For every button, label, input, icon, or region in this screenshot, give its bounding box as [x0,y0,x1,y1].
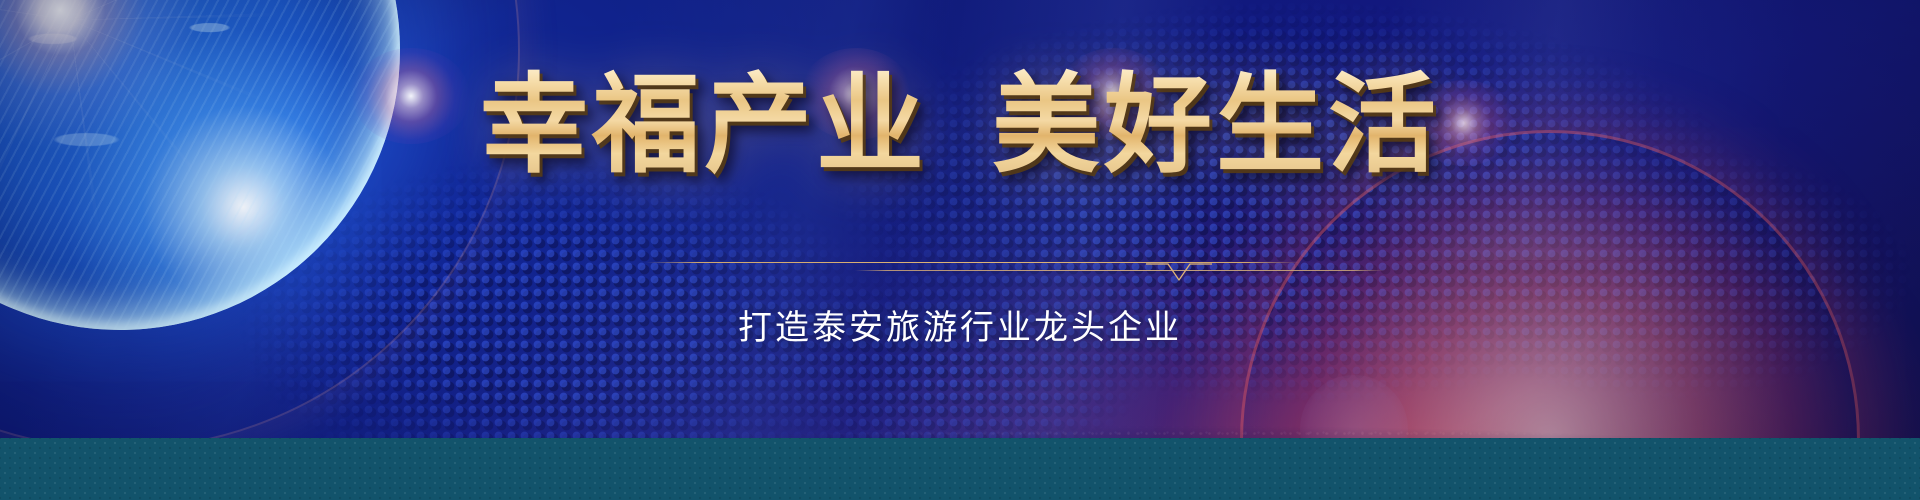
banner-subtitle: 打造泰安旅游行业龙头企业 [0,300,1920,349]
hero-banner: 幸福产业美好生活 打造泰安旅游行业龙头企业 [0,0,1920,500]
bottom-teal-bar [0,438,1920,500]
divider-line-bottom [855,270,1385,271]
headline-part-1: 幸福产业 [480,63,928,188]
city-starburst-icon [515,369,585,439]
divider-v-notch-icon [1144,258,1214,284]
divider [620,256,1300,278]
banner-headline: 幸福产业美好生活 [0,62,1920,189]
headline-part-2: 美好生活 [992,63,1440,188]
